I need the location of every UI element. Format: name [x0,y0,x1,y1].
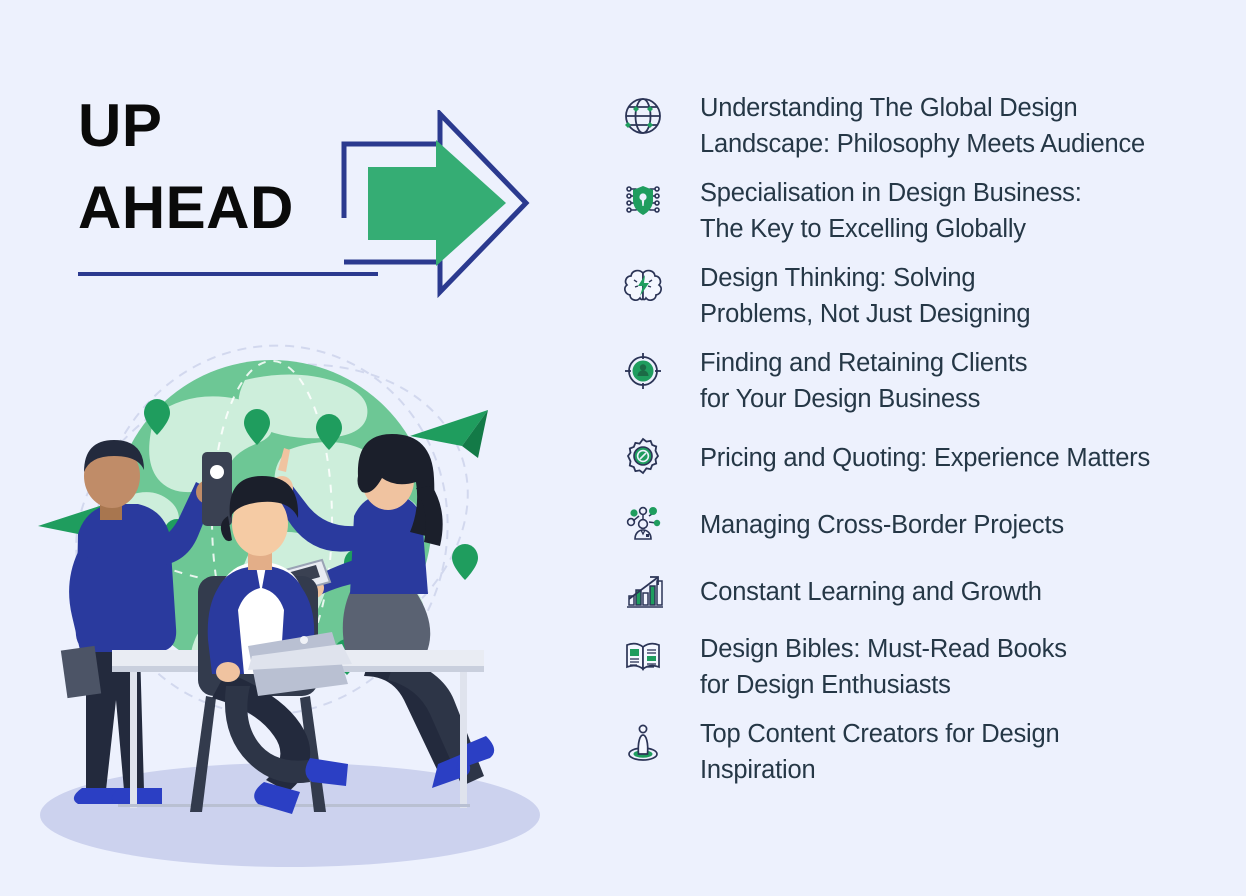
list-item-label: Top Content Creators for DesignInspirati… [674,714,1246,788]
list-item-label: Managing Cross-Border Projects [674,495,1246,543]
list-item-label: Finding and Retaining Clientsfor Your De… [674,343,1246,417]
shield-keyhole-network-icon [612,173,674,229]
list-item[interactable]: Managing Cross-Border Projects [600,495,1246,551]
topics-list: Understanding The Global DesignLandscape… [600,0,1246,896]
people-scene [61,434,494,814]
list-item[interactable]: Top Content Creators for DesignInspirati… [600,714,1246,788]
left-panel: UP AHEAD [0,0,600,896]
list-item[interactable]: Understanding The Global DesignLandscape… [600,88,1246,162]
list-item-label: Constant Learning and Growth [674,562,1246,610]
infographic-canvas: UP AHEAD [0,0,1246,896]
list-item[interactable]: Specialisation in Design Business:The Ke… [600,173,1246,247]
list-item-label: Design Bibles: Must-Read Booksfor Design… [674,629,1246,703]
global-team-collaboration-illustration [20,320,590,880]
globe-icon [612,88,674,144]
list-item[interactable]: Finding and Retaining Clientsfor Your De… [600,343,1246,417]
list-item-label: Specialisation in Design Business:The Ke… [674,173,1246,247]
title-underline [78,272,378,276]
brain-lightning-icon [612,258,674,314]
list-item-label: Pricing and Quoting: Experience Matters [674,428,1246,476]
open-book-icon [612,629,674,685]
people-network-icon [612,495,674,551]
list-item-label: Design Thinking: SolvingProblems, Not Ju… [674,258,1246,332]
price-badge-icon [612,428,674,484]
list-item[interactable]: Pricing and Quoting: Experience Matters [600,428,1246,484]
list-item-label: Understanding The Global DesignLandscape… [674,88,1246,162]
list-item[interactable]: Constant Learning and Growth [600,562,1246,618]
person-podium-icon [612,714,674,770]
target-person-icon [612,343,674,399]
right-arrow-icon [340,110,530,300]
growth-chart-icon [612,562,674,618]
list-item[interactable]: Design Bibles: Must-Read Booksfor Design… [600,629,1246,703]
list-item[interactable]: Design Thinking: SolvingProblems, Not Ju… [600,258,1246,332]
